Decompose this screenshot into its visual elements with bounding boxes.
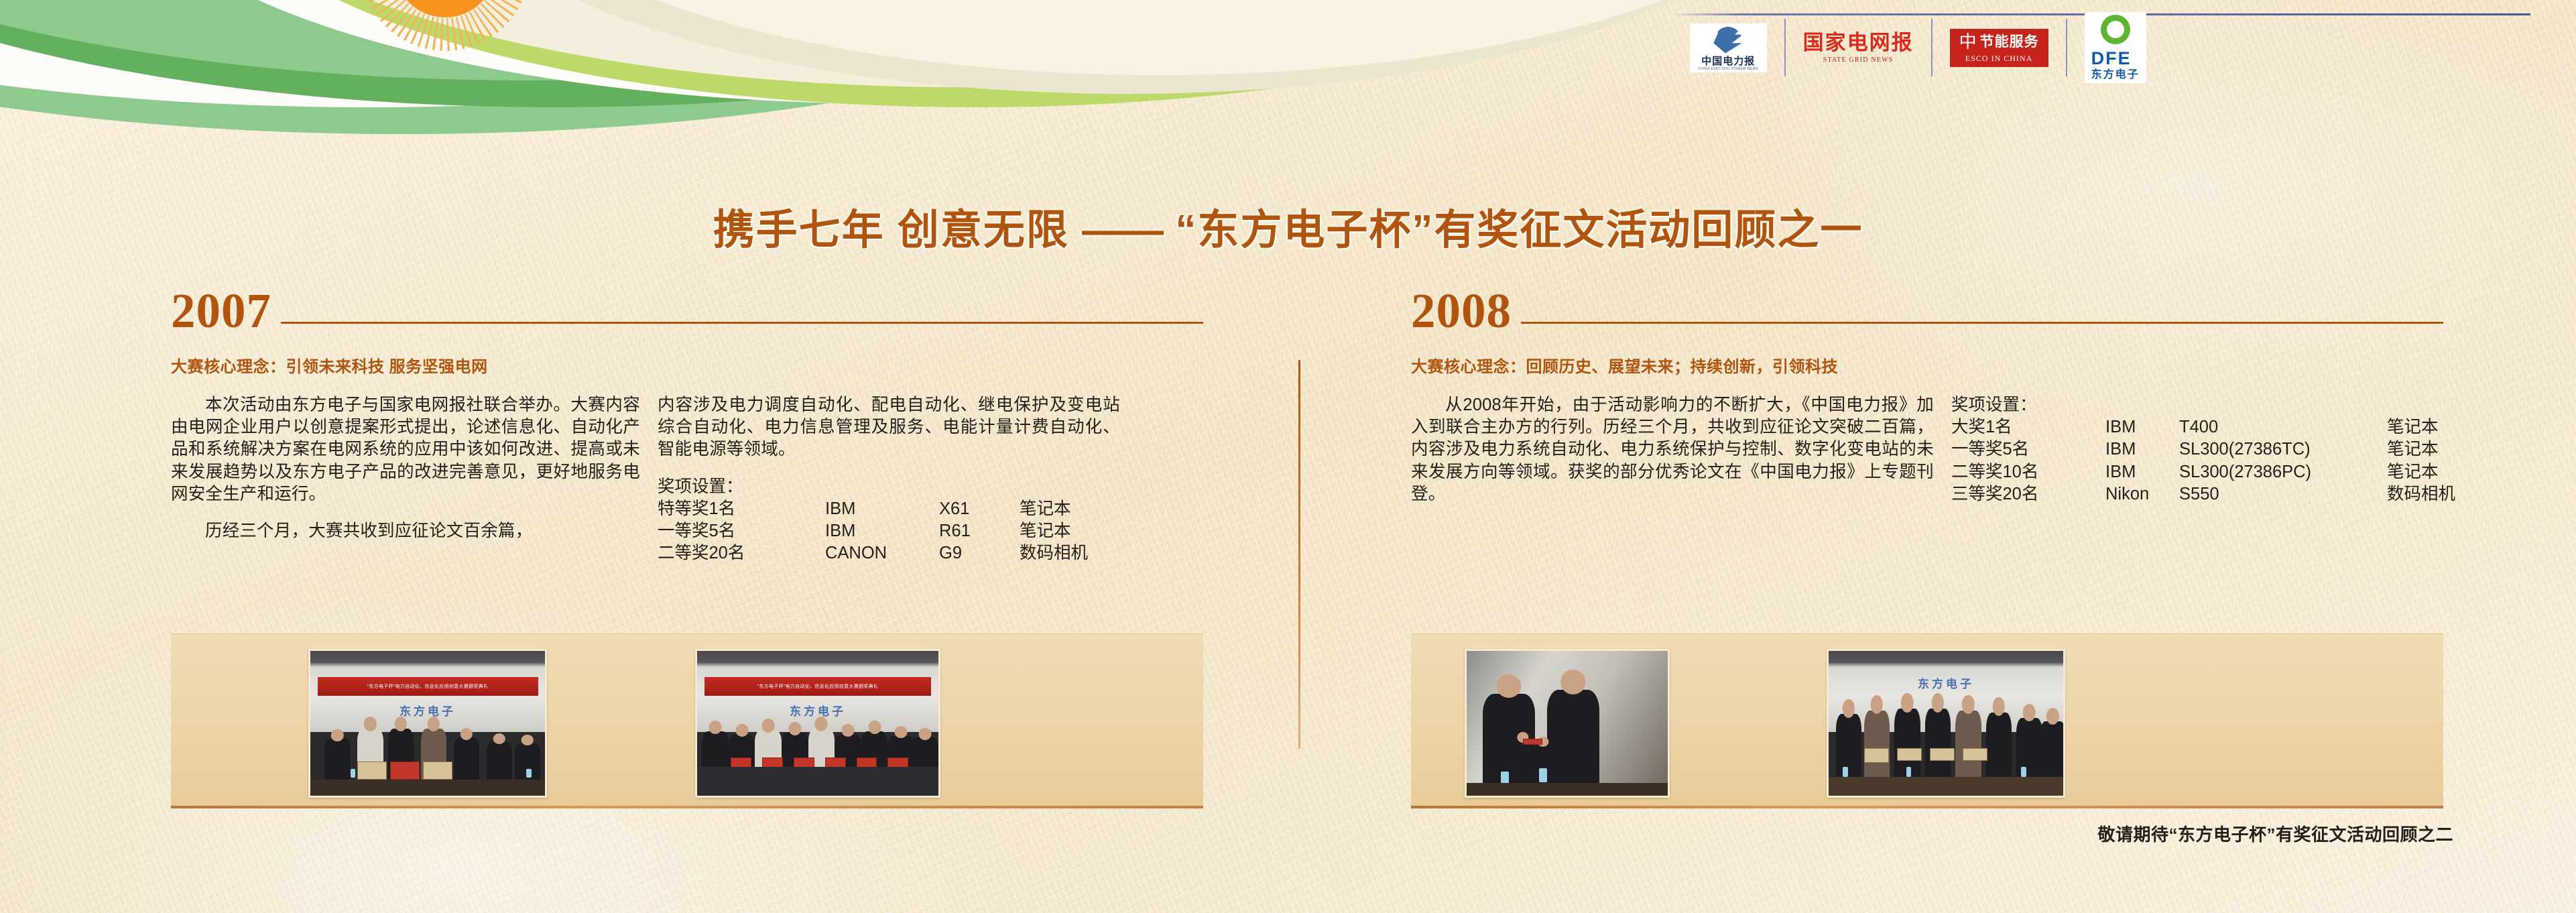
poster-canvas: 中国电力报 CHINA ELECTRIC POWER NEWS 国家电网报 ST… (0, 0, 2576, 913)
cepn-mark-icon (1711, 25, 1745, 55)
award-rank: 二等奖10名 (1951, 461, 2105, 483)
photo-people (310, 709, 545, 784)
photo-banner-text: “东方电子杯”电力自动化、信息化应用创意大赛颁奖典礼 (704, 677, 931, 696)
photo-award-group-photo[interactable]: 东方电子 (1827, 649, 2065, 798)
year-column-2007: 2007 大赛核心理念：引领未来科技 服务坚强电网 本次活动由东方电子与国家电网… (171, 288, 1203, 564)
page-title: 携手七年 创意无限 —— “东方电子杯”有奖征文活动回顾之一 (0, 196, 2576, 256)
slogan-2008: 大赛核心理念：回顾历史、展望未来；持续创新，引领科技 (1411, 353, 2443, 377)
photo-strip-2008: 东方电子 (1411, 633, 2443, 808)
sponsor-logo-bar: 中国电力报 CHINA ELECTRIC POWER NEWS 国家电网报 ST… (1672, 3, 2557, 79)
logo-china-electric-power-news[interactable]: 中国电力报 CHINA ELECTRIC POWER NEWS (1672, 19, 1784, 76)
photo-table (1467, 783, 1668, 796)
award-rank: 一等奖5名 (658, 520, 825, 542)
photo-strip-2007: “东方电子杯”电力自动化、信息化应用创意大赛颁奖典礼 东方电子 (171, 633, 1203, 808)
award-model: T400 (2179, 416, 2387, 438)
award-prize: 笔记本 (2387, 438, 2455, 461)
logo-dongfang-electronics[interactable]: DFE 东方电子 (2066, 19, 2164, 76)
award-prize: 数码相机 (1020, 542, 1120, 564)
logo-state-grid-news[interactable]: 国家电网报 STATE GRID NEWS (1784, 19, 1931, 76)
award-model: X61 (939, 498, 1020, 520)
award-rank: 一等奖5名 (1951, 438, 2105, 461)
award-prize: 笔记本 (2387, 416, 2455, 438)
year-rule-2008 (1521, 322, 2443, 324)
photo-banner-text: “东方电子杯”电力自动化、信息化应用创意大赛颁奖典礼 (318, 677, 538, 696)
page-title-dash: —— (1082, 207, 1162, 253)
paragraph: 本次活动由东方电子与国家电网报社联合举办。大赛内容由电网企业用户以创意提案形式提… (171, 394, 640, 505)
year-number-2007: 2007 (171, 288, 271, 333)
awards-table-2007: 特等奖1名 IBM X61 笔记本 一等奖5名 IBM R61 笔记本 二等奖2… (658, 498, 1120, 564)
paragraph: 历经三个月，大赛共收到应征论文百余篇， (171, 520, 640, 542)
dfe-mark-icon (2101, 15, 2130, 44)
awards-table-2008: 大奖1名 IBM T400 笔记本 一等奖5名 IBM SL300(27386T… (1951, 416, 2434, 505)
page-title-right: “东方电子杯”有奖征文活动回顾之一 (1175, 207, 1863, 253)
photo-award-handover[interactable] (1465, 649, 1670, 798)
footer-note: 敬请期待“东方电子杯”有奖征文活动回顾之二 (1810, 821, 2453, 846)
award-model: G9 (939, 542, 1020, 564)
award-brand: Nikon (2105, 483, 2179, 505)
year-number-2008: 2008 (1411, 288, 1512, 333)
award-rank: 三等奖20名 (1951, 483, 2105, 505)
award-brand: IBM (825, 520, 939, 542)
cepn-logo-cn: 中国电力报 (1701, 56, 1755, 66)
body-text-right-2007: 内容涉及电力调度自动化、配电自动化、继电保护及变电站综合自动化、电力信息管理及服… (658, 394, 1120, 564)
award-brand: IBM (2105, 416, 2179, 438)
paragraph: 从2008年开始，由于活动影响力的不断扩大，《中国电力报》加入到联合主办方的行列… (1411, 394, 1934, 505)
sgn-logo-sub: STATE GRID NEWS (1823, 56, 1894, 64)
year-heading-row-2008: 2008 (1411, 288, 2443, 333)
cepn-logo-sub: CHINA ELECTRIC POWER NEWS (1698, 67, 1759, 71)
award-model: R61 (939, 520, 1020, 542)
year-column-2008: 2008 大赛核心理念：回顾历史、展望未来；持续创新，引领科技 从2008年开始… (1411, 288, 2443, 505)
strip-bottom-rule (1411, 806, 2443, 808)
photo-table (1829, 777, 2063, 796)
photo-award-ceremony-winners[interactable]: “东方电子杯”电力自动化、信息化应用创意大赛颁奖典礼 东方电子 (308, 649, 547, 798)
photo-backdrop-logo: 东方电子 (1880, 671, 2012, 694)
year-rule-2007 (281, 322, 1203, 324)
photo-chairs (697, 767, 938, 796)
photo-people (1467, 686, 1668, 784)
award-model: S550 (2179, 483, 2387, 505)
body-text-left-2008: 从2008年开始，由于活动影响力的不断扩大，《中国电力报》加入到联合主办方的行列… (1411, 394, 1934, 505)
dfe-logo-en: DFE (2091, 50, 2140, 68)
photo-award-ceremony-group[interactable]: “东方电子杯”电力自动化、信息化应用创意大赛颁奖典礼 东方电子 (695, 649, 940, 798)
sgn-logo-cn: 国家电网报 (1803, 32, 1914, 53)
body-text-left-2007: 本次活动由东方电子与国家电网报社联合举办。大赛内容由电网企业用户以创意提案形式提… (171, 394, 640, 564)
esco-logo-cn: 节能服务 (1980, 35, 2039, 49)
award-brand: CANON (825, 542, 939, 564)
body-text-right-2008: 奖项设置： 大奖1名 IBM T400 笔记本 一等奖5名 IBM SL300(… (1951, 394, 2434, 505)
award-rank: 特等奖1名 (658, 498, 825, 520)
header-decoration (0, 0, 1676, 141)
year-heading-row-2007: 2007 (171, 288, 1203, 333)
logo-esco-in-china[interactable]: 中 节能服务 ESCO IN CHINA (1931, 19, 2066, 76)
award-brand: IBM (2105, 438, 2179, 461)
award-brand: IBM (825, 498, 939, 520)
award-brand: IBM (2105, 461, 2179, 483)
award-prize: 笔记本 (2387, 461, 2455, 483)
dfe-logo-cn: 东方电子 (2091, 70, 2140, 80)
award-rank: 二等奖20名 (658, 542, 825, 564)
award-prize: 数码相机 (2387, 483, 2455, 505)
page-title-left: 携手七年 创意无限 (713, 207, 1069, 253)
awards-title-2007: 奖项设置： (658, 476, 1120, 498)
slogan-2007: 大赛核心理念：引领未来科技 服务坚强电网 (171, 353, 1203, 377)
award-model: SL300(27386PC) (2179, 461, 2387, 483)
award-prize: 笔记本 (1020, 498, 1120, 520)
esco-logo-sub: ESCO IN CHINA (1965, 54, 2032, 64)
photo-table (310, 780, 545, 796)
strip-bottom-rule (171, 806, 1203, 808)
esco-mark-icon: 中 (1959, 34, 1977, 51)
paragraph: 内容涉及电力调度自动化、配电自动化、继电保护及变电站综合自动化、电力信息管理及服… (658, 394, 1120, 461)
photo-people (1829, 694, 2063, 784)
awards-title-2008: 奖项设置： (1951, 394, 2434, 416)
column-divider (1298, 360, 1300, 749)
award-rank: 大奖1名 (1951, 416, 2105, 438)
award-model: SL300(27386TC) (2179, 438, 2387, 461)
award-prize: 笔记本 (1020, 520, 1120, 542)
